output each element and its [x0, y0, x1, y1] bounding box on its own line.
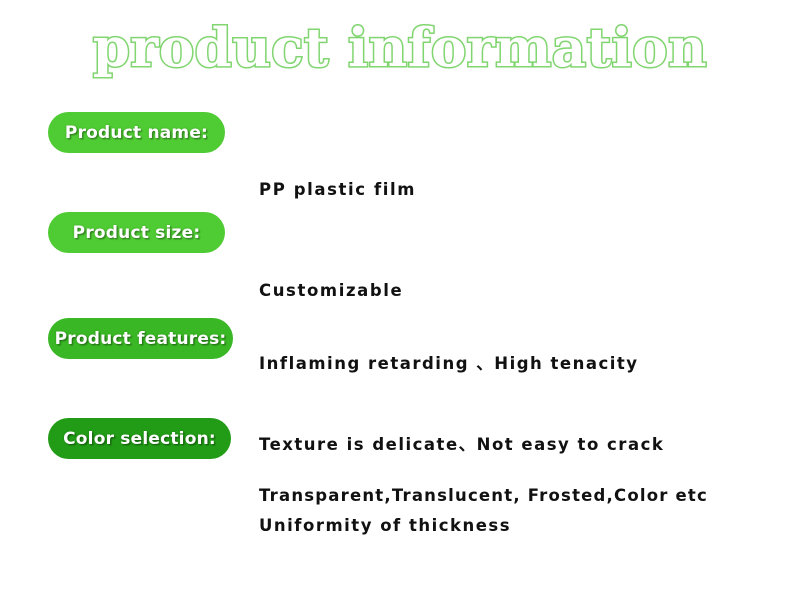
label-badge-product-features-text: Product features: [55, 330, 227, 348]
page-title: product information [93, 18, 707, 78]
label-badge-product-size-text: Product size: [73, 224, 201, 242]
label-badge-product-size: Product size: [48, 212, 225, 253]
product-information-sheet: product information Product name: PP pla… [0, 0, 800, 500]
label-badge-product-features: Product features: [48, 318, 233, 359]
value-color-selection: Transparent,Translucent, Frosted,Color e… [259, 428, 708, 563]
label-badge-product-name: Product name: [48, 112, 225, 153]
page-title-container: product information [0, 18, 800, 90]
value-product-name-line-1: PP plastic film [259, 176, 416, 203]
label-badge-product-name-text: Product name: [65, 124, 208, 142]
value-product-features-line-1: Inflaming retarding 、High tenacity [259, 350, 664, 377]
value-color-selection-line-1: Transparent,Translucent, Frosted,Color e… [259, 482, 708, 509]
label-badge-color-selection-text: Color selection: [63, 430, 216, 448]
label-badge-color-selection: Color selection: [48, 418, 231, 459]
